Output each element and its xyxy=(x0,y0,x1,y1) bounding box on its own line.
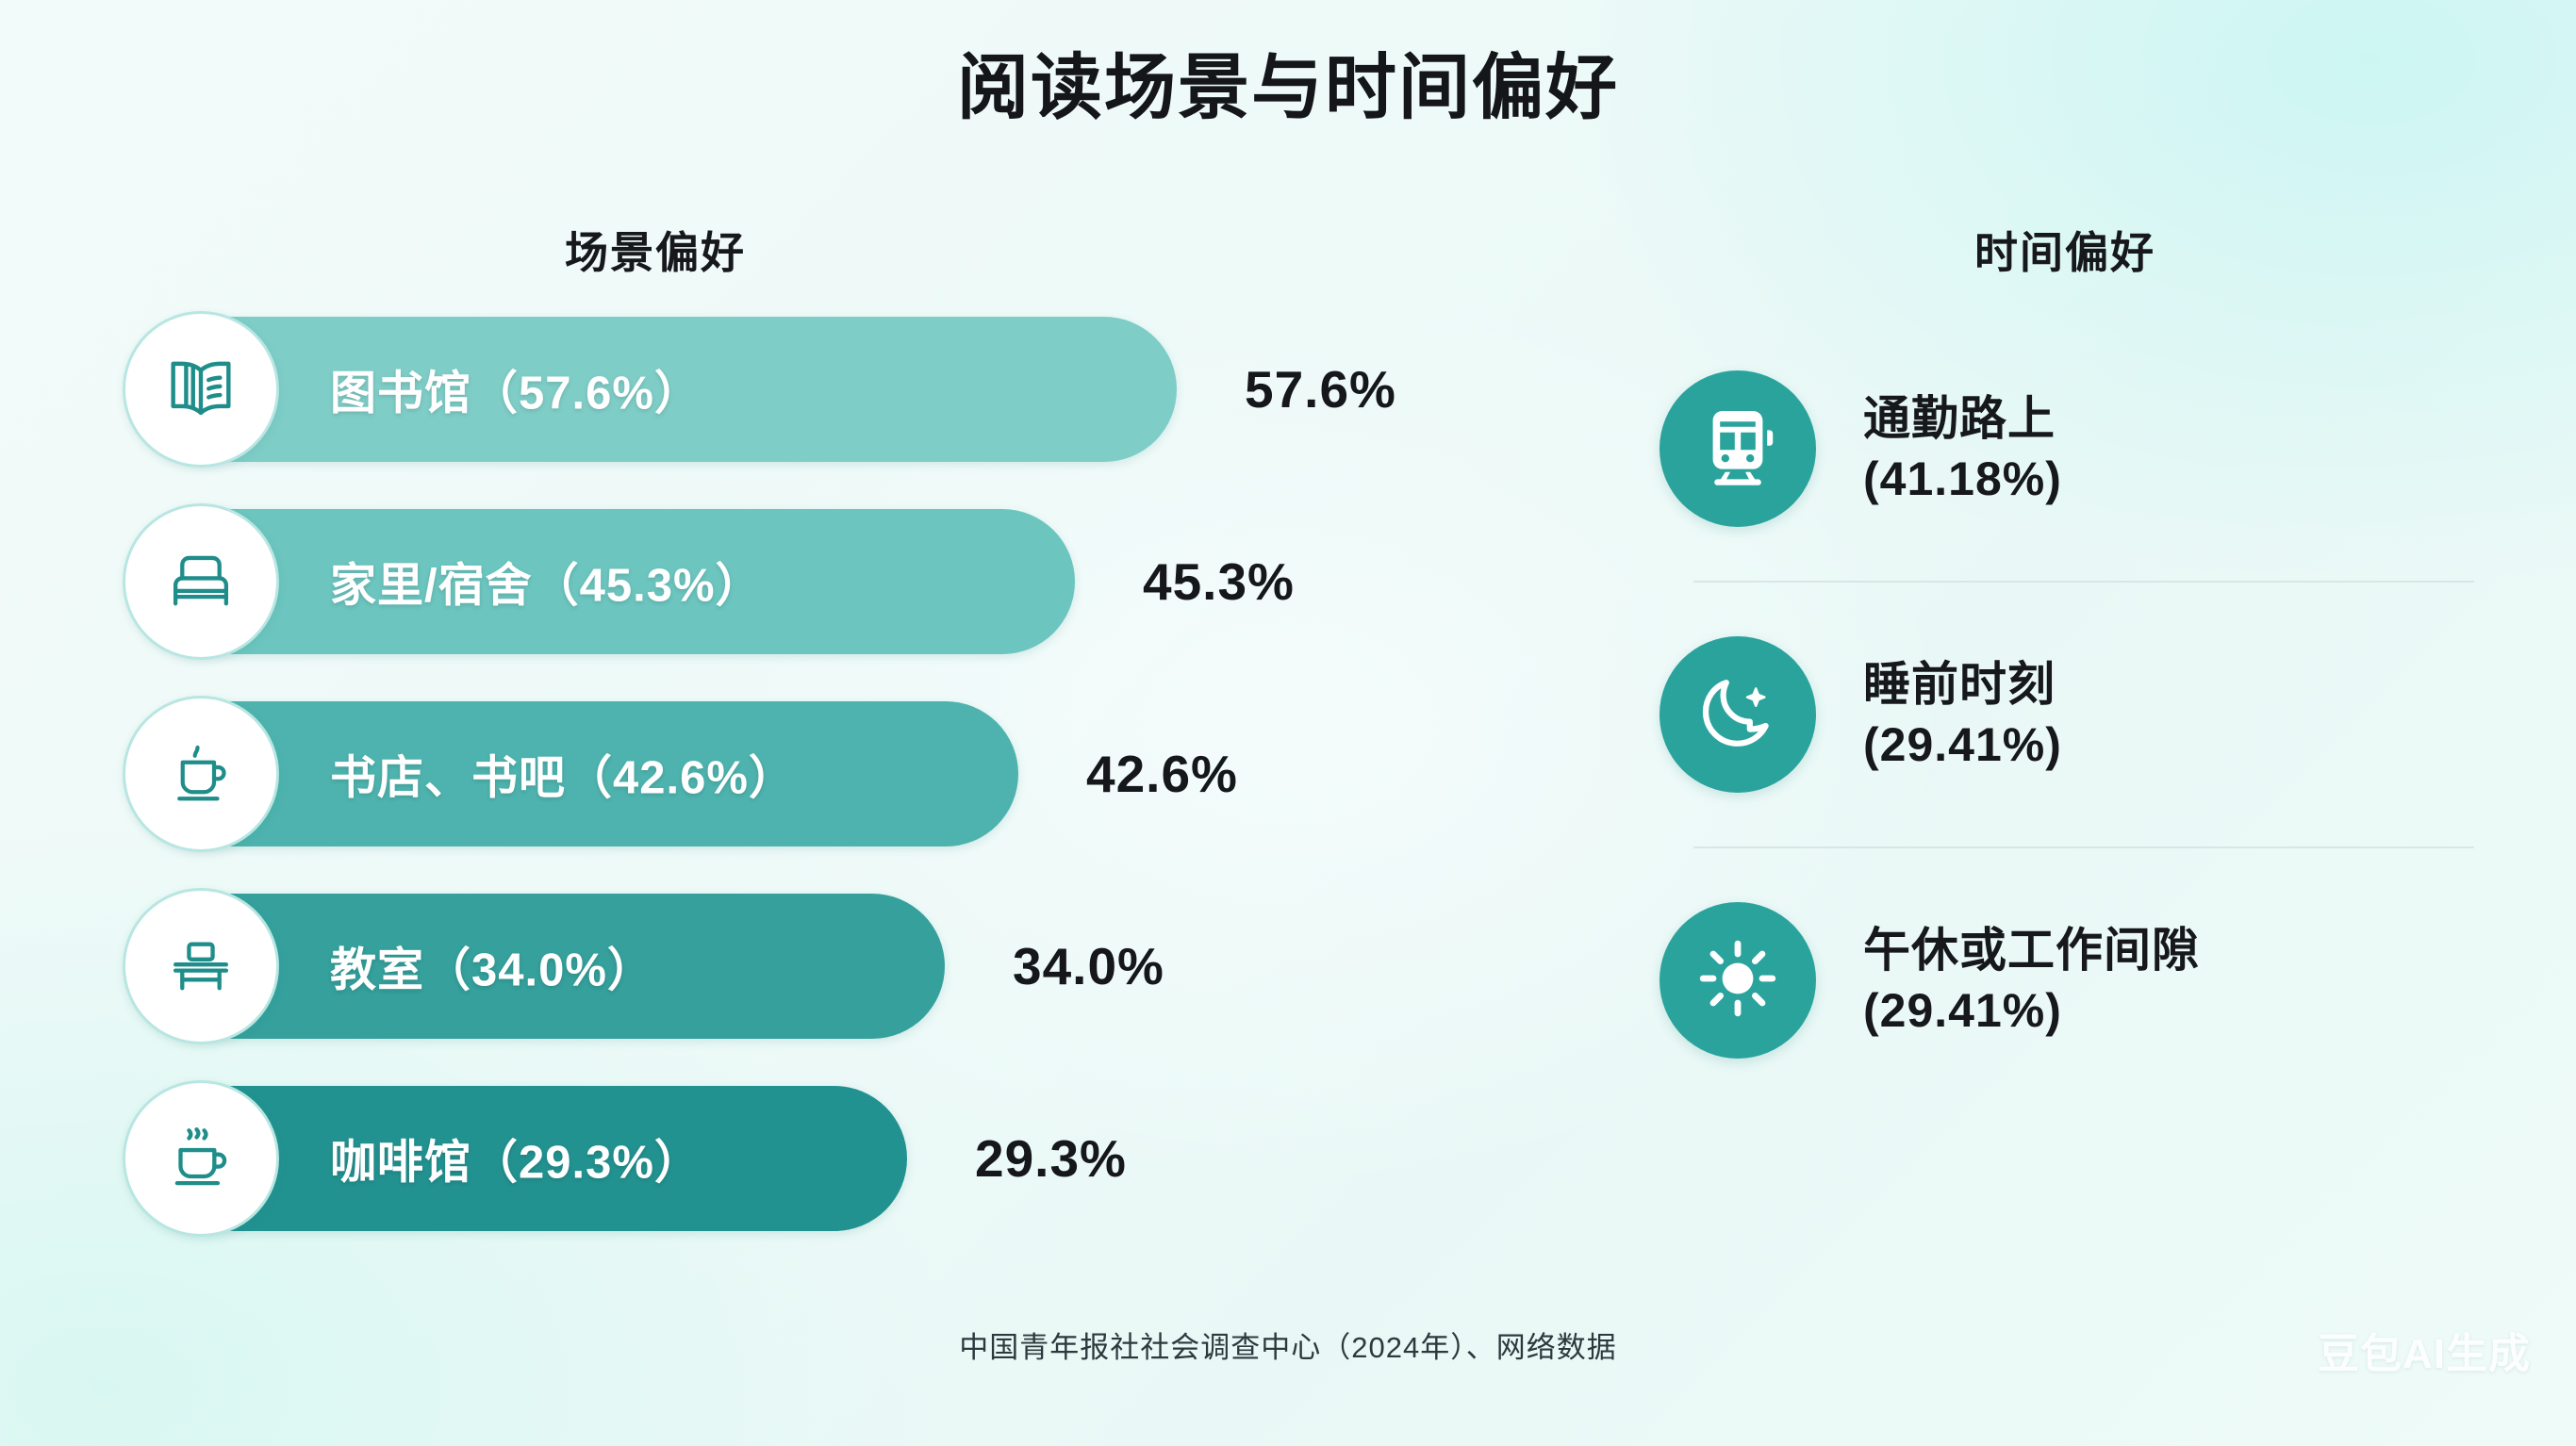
list-item[interactable]: 午休或工作间隙 (29.41%) xyxy=(1660,848,2489,1112)
time-label-line1: 通勤路上 xyxy=(1863,388,2062,449)
time-label: 睡前时刻 (29.41%) xyxy=(1863,654,2062,775)
list-item[interactable]: 睡前时刻 (29.41%) xyxy=(1660,583,2489,846)
time-label: 通勤路上 (41.18%) xyxy=(1863,388,2062,509)
time-label-line1: 午休或工作间隙 xyxy=(1863,920,2200,980)
moon-star-icon xyxy=(1693,667,1783,763)
infographic-canvas: 阅读场景与时间偏好 场景偏好 时间偏好 图书馆（57.6%） 57.6% xyxy=(0,0,2576,1446)
page-title: 阅读场景与时间偏好 xyxy=(0,49,2576,128)
watermark: 豆包AI生成 xyxy=(2318,1320,2531,1380)
sun-icon xyxy=(1693,933,1783,1028)
scene-preference-bar-chart: 图书馆（57.6%） 57.6% 家里/宿舍（45.3%） 45 xyxy=(132,317,1603,1278)
source-footnote: 中国青年报社社会调查中心（2024年）、网络数据 xyxy=(0,1323,2576,1366)
open-book-icon xyxy=(123,311,279,468)
bar-value: 57.6% xyxy=(1245,359,1396,419)
train-icon xyxy=(1693,402,1783,497)
section-header-time: 时间偏好 xyxy=(1660,219,2470,281)
bar-row[interactable]: 家里/宿舍（45.3%） 45.3% xyxy=(132,509,1603,660)
section-header-scene: 场景偏好 xyxy=(132,219,1179,281)
school-desk-icon xyxy=(123,888,279,1044)
bar-value: 29.3% xyxy=(975,1128,1127,1189)
time-preference-list: 通勤路上 (41.18%) 睡前时刻 (29.41%) xyxy=(1660,317,2489,1112)
coffee-cup-icon xyxy=(123,1080,279,1237)
bar-row[interactable]: 教室（34.0%） 34.0% xyxy=(132,894,1603,1044)
train-icon-badge xyxy=(1660,370,1816,527)
bar-row[interactable]: 咖啡馆（29.3%） 29.3% xyxy=(132,1086,1603,1237)
bar-label: 书店、书吧（42.6%） xyxy=(330,741,796,808)
bar-value: 34.0% xyxy=(1013,936,1164,996)
bar-row[interactable]: 图书馆（57.6%） 57.6% xyxy=(132,317,1603,468)
list-item[interactable]: 通勤路上 (41.18%) xyxy=(1660,317,2489,581)
bar-label: 教室（34.0%） xyxy=(330,933,654,1000)
sun-icon-badge xyxy=(1660,902,1816,1059)
armchair-icon xyxy=(123,503,279,660)
time-label-line2: (41.18%) xyxy=(1863,449,2062,509)
bar-label: 家里/宿舍（45.3%） xyxy=(330,549,763,616)
time-label: 午休或工作间隙 (29.41%) xyxy=(1863,920,2200,1041)
bar-value: 45.3% xyxy=(1143,551,1295,612)
time-label-line1: 睡前时刻 xyxy=(1863,654,2062,715)
time-label-line2: (29.41%) xyxy=(1863,715,2062,775)
bar-row[interactable]: 书店、书吧（42.6%） 42.6% xyxy=(132,701,1603,852)
bar-label: 咖啡馆（29.3%） xyxy=(330,1126,702,1192)
bar-value: 42.6% xyxy=(1086,744,1238,804)
bar-label: 图书馆（57.6%） xyxy=(330,356,702,423)
teacup-icon xyxy=(123,696,279,852)
moon-icon-badge xyxy=(1660,636,1816,793)
time-label-line2: (29.41%) xyxy=(1863,980,2200,1041)
